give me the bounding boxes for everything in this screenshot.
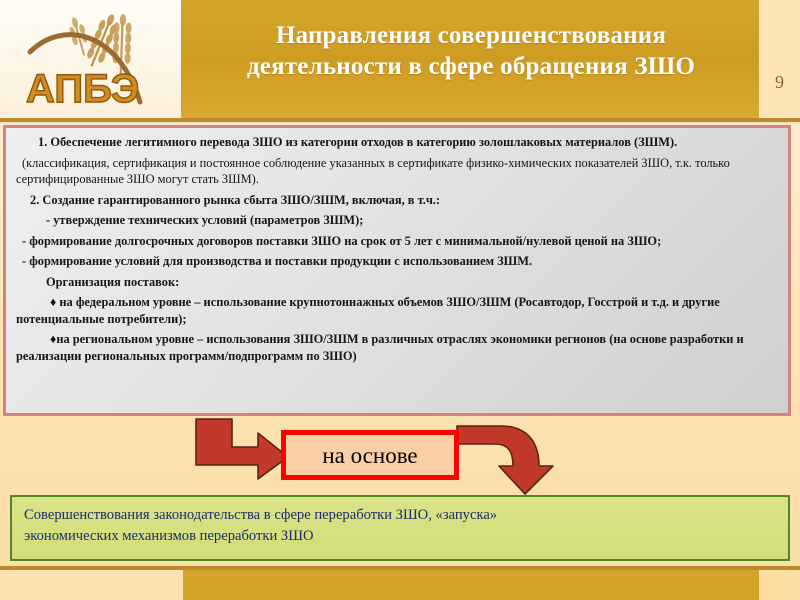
logo-panel: АПБЭ <box>0 0 181 118</box>
content-paragraph-4: - утверждение технических условий (парам… <box>16 212 778 229</box>
header-right-panel <box>759 0 800 118</box>
content-panel: 1. Обеспечение легитимного перевода ЗШО … <box>3 125 791 416</box>
page-title-line1: Направления совершенствования <box>186 20 756 51</box>
curved-arrow-right-down <box>455 422 565 503</box>
page-title-line2: деятельности в сфере обращения ЗШО <box>186 51 756 82</box>
callout-label: на основе <box>322 444 417 467</box>
logo-wordmark: АПБЭ <box>26 67 139 111</box>
apbe-logo: АПБЭ <box>22 6 172 114</box>
bent-arrow-down-right <box>192 417 292 490</box>
footer-gold-band <box>183 570 759 600</box>
conclusion-box: Совершенствования законодательства в сфе… <box>10 495 790 561</box>
conclusion-line1: Совершенствования законодательства в сфе… <box>24 505 776 526</box>
content-paragraph-2: (классификация, сертификация и постоянно… <box>16 155 778 188</box>
content-paragraph-7: Организация поставок: <box>16 274 778 291</box>
conclusion-line2: экономических механизмов переработки ЗШО <box>24 526 776 547</box>
footer-right-panel <box>759 570 800 600</box>
content-paragraph-6: - формирование условий для производства … <box>16 253 778 270</box>
content-paragraph-9: ♦на региональном уровне – использования … <box>16 331 778 364</box>
content-paragraph-1: 1. Обеспечение легитимного перевода ЗШО … <box>16 134 778 151</box>
content-paragraph-8: ♦ на федеральном уровне – использование … <box>16 294 778 327</box>
content-paragraph-5: - формирование долгосрочных договоров по… <box>16 233 778 250</box>
slide-header: АПБЭ Направления совершенствования деяте… <box>0 0 800 118</box>
header-divider-light <box>0 122 800 124</box>
callout-box: на основе <box>281 430 459 480</box>
page-number: 9 <box>759 72 800 93</box>
page-title: Направления совершенствования деятельнос… <box>186 20 756 83</box>
footer-left-panel <box>0 570 183 600</box>
content-paragraph-3: 2. Создание гарантированного рынка сбыта… <box>16 192 778 209</box>
slide: АПБЭ Направления совершенствования деяте… <box>0 0 800 600</box>
